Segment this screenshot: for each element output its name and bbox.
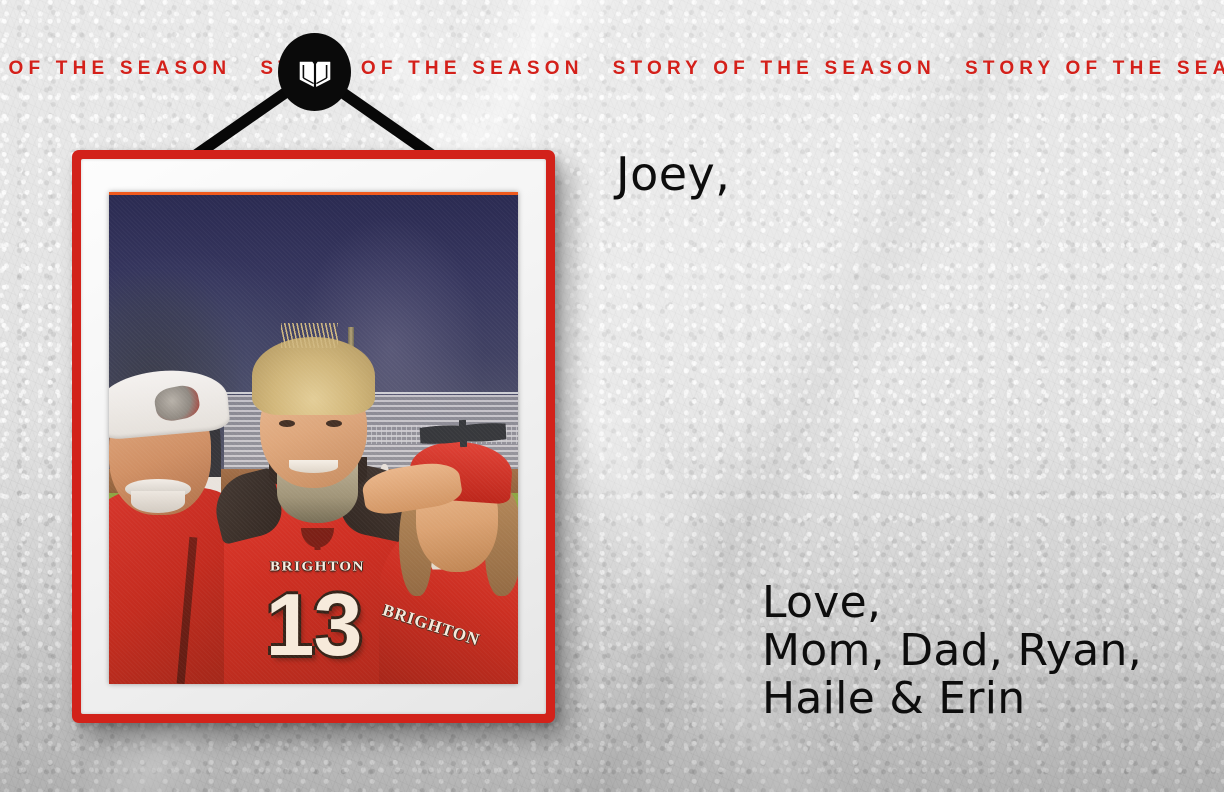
signature-line: Mom, Dad, Ryan, (762, 627, 1142, 675)
frame-mat: BRIGHTON 13 BRIGHTON (81, 159, 546, 714)
photo-sunglasses-icon (419, 418, 506, 449)
signature-block: Love, Mom, Dad, Ryan, Haile & Erin (762, 579, 1142, 723)
family-photo: BRIGHTON 13 BRIGHTON (109, 192, 518, 684)
photo-joey-hair-spikes (281, 323, 338, 347)
signature-line: Haile & Erin (762, 675, 1142, 723)
picture-frame[interactable]: BRIGHTON 13 BRIGHTON (72, 150, 555, 723)
photo-jersey-team-name: BRIGHTON (248, 560, 387, 576)
photo-jersey-brand-logo (299, 528, 336, 550)
photo-joey-smile (289, 460, 338, 473)
story-of-the-season-card: STORY OF THE SEASONSTORY OF THE SEASONST… (0, 0, 1224, 792)
greeting-text: Joey, (616, 146, 730, 202)
open-book-icon (295, 55, 335, 89)
photo-joey-hair (252, 337, 375, 415)
photo-dad-cap-logo (152, 382, 202, 423)
photo-dad-beard (131, 491, 184, 513)
site-logo-medallion[interactable] (278, 33, 351, 111)
signature-line: Love, (762, 579, 1142, 627)
photo-jersey-number: 13 (232, 581, 396, 669)
